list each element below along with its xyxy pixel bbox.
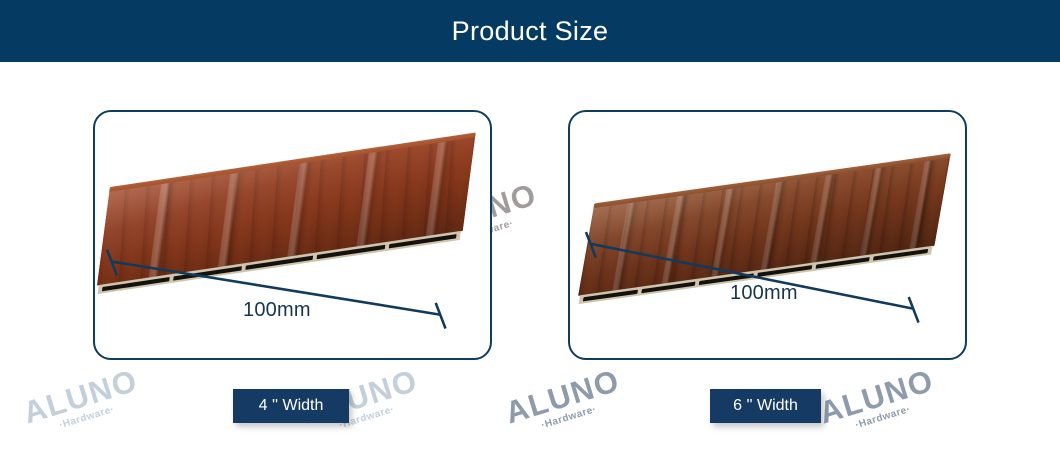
dimension-line-6-inch: [570, 112, 965, 358]
watermark-subtext: ·Hardware·: [825, 395, 941, 440]
product-card-4-inch[interactable]: 100mm: [93, 110, 492, 360]
badge-4-inch-width[interactable]: 4 '' Width: [233, 389, 349, 423]
page-title: Product Size: [452, 16, 609, 47]
watermark-logo: ALUNO ·Hardware·: [816, 365, 941, 441]
watermark-logo: ALUNO ·Hardware·: [502, 365, 627, 441]
product-image-6-inch: 100mm: [570, 112, 965, 358]
watermark-text: ALUNO: [502, 365, 624, 429]
dimension-label: 100mm: [730, 282, 798, 305]
product-image-4-inch: 100mm: [95, 112, 490, 358]
badge-6-inch-width[interactable]: 6 '' Width: [710, 389, 821, 423]
watermark-subtext: ·Hardware·: [511, 395, 627, 440]
watermark-logo: ALUNO ·Hardware·: [20, 365, 145, 441]
watermark-text: ALUNO: [20, 365, 142, 429]
watermark-text: ALUNO: [816, 365, 938, 429]
header-bar: Product Size: [0, 0, 1060, 62]
product-card-6-inch[interactable]: 100mm: [568, 110, 967, 360]
watermark-subtext: ·Hardware·: [29, 395, 145, 440]
dimension-label: 100mm: [243, 299, 311, 322]
